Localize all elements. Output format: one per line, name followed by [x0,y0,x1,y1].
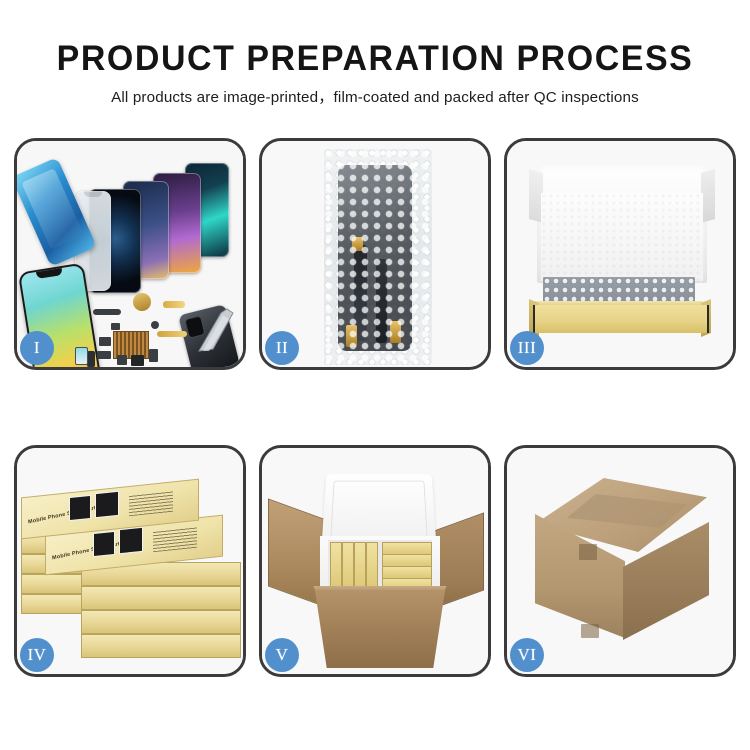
part-flex-gold-1 [163,301,185,308]
step-badge-1: I [20,331,54,365]
step-badge-2: II [265,331,299,365]
yellow-box-a1 [330,542,342,590]
part-screen-chip [75,347,88,365]
foam-sheet [541,193,703,281]
stack-box-r4 [81,634,241,658]
step-badge-4: IV [20,638,54,672]
process-step-3-image [507,141,733,367]
stack-box-r2 [81,586,241,610]
box-stack: Mobile Phone Spare Parts Mobile Phone Sp… [19,466,243,666]
tweezers-icon [193,299,239,353]
box-front-panel [533,305,709,333]
bubble-wrap-bag [324,149,432,365]
carton-body [306,590,454,668]
box-window-2a [93,531,115,557]
carton-tape-top [579,544,597,560]
gold-connector-right [390,321,401,343]
carton-tape-bottom [581,624,599,638]
part-speaker-gold [133,293,151,311]
box-window-1a [69,495,91,521]
box-spec-lines-2 [153,526,197,553]
gold-connector-top [352,237,363,251]
styrofoam-cavity [328,540,432,590]
part-small-2 [97,351,111,359]
box-window-2b [119,527,143,555]
process-step-3: III [504,138,736,370]
page-title: PRODUCT PREPARATION PROCESS [11,38,739,80]
flex-cable-2 [376,259,387,343]
part-small-1 [99,337,111,346]
yellow-box-a2 [342,542,354,590]
yellow-box-a3 [354,542,366,590]
process-step-6-image [507,448,733,674]
part-flex-gold-2 [157,331,187,337]
box-spec-lines-1 [129,490,173,517]
yellow-box-a4 [366,542,378,590]
page-subtitle: All products are image-printed，film-coat… [0,87,750,109]
process-step-2-image [262,141,488,367]
part-small-3 [117,355,127,365]
process-step-5-image [262,448,488,674]
process-step-5: V [259,445,491,677]
process-step-2: II [259,138,491,370]
process-panel-grid: I II III [14,138,736,677]
process-step-6: VI [504,445,736,677]
process-step-1-image [17,141,243,367]
process-step-4: Mobile Phone Spare Parts Mobile Phone Sp… [14,445,246,677]
page-header: PRODUCT PREPARATION PROCESS All products… [0,0,750,109]
step-badge-5: V [265,638,299,672]
part-strip-1 [93,309,121,315]
gold-connector-left [346,325,357,347]
part-camera-module [87,351,95,367]
part-small-4 [131,355,144,366]
box-window-1b [95,491,119,519]
part-small-5 [149,349,158,362]
step-badge-6: VI [510,638,544,672]
process-step-4-image: Mobile Phone Spare Parts Mobile Phone Sp… [17,448,243,674]
process-step-1: I [14,138,246,370]
part-small-7 [151,321,159,329]
part-small-6 [111,323,120,330]
stack-box-r3 [81,610,241,634]
step-badge-3: III [510,331,544,365]
